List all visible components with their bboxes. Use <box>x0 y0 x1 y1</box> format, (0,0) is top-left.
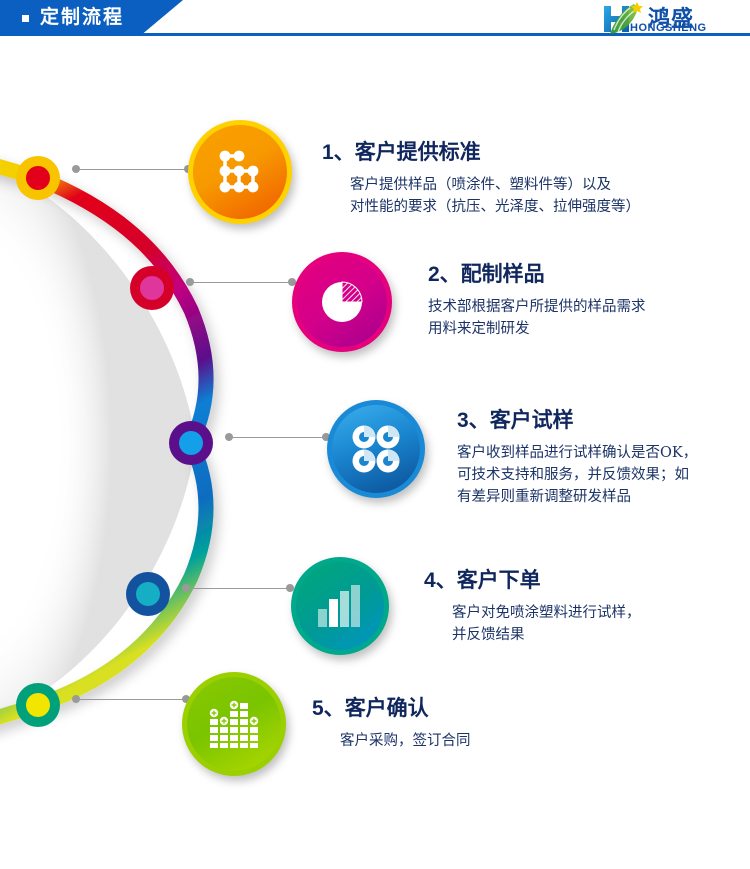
step-1-desc-line-1: 客户提供样品（喷涂件、塑料件等）以及 <box>350 174 640 196</box>
step-3-title-label: 客户试样 <box>490 409 574 432</box>
step-4-desc: 客户对免喷涂塑料进行试样， 并反馈结果 <box>452 602 641 646</box>
step-1-desc-line-2: 对性能的要求（抗压、光泽度、拉伸强度等） <box>350 196 640 218</box>
step-3-desc-line-1: 客户收到样品进行试样确认是否OK， <box>457 442 697 464</box>
step-4-badge[interactable] <box>291 557 389 655</box>
step-1-text: 1、客户提供标准 客户提供样品（喷涂件、塑料件等）以及 对性能的要求（抗压、光泽… <box>322 140 640 218</box>
step-3-text: 3、客户试样 客户收到样品进行试样确认是否OK， 可技术支持和服务，并反馈效果；… <box>457 408 697 508</box>
step-2-badge-inner <box>297 257 387 347</box>
step-2-title: 2、配制样品 <box>428 262 646 288</box>
step-5-number: 5、 <box>312 697 345 720</box>
connector-1 <box>72 165 192 174</box>
pie-chart-icon <box>318 278 366 326</box>
step-4-title-label: 客户下单 <box>457 569 541 592</box>
connector-line <box>190 282 292 283</box>
step-3-badge[interactable] <box>327 400 425 498</box>
connector-5 <box>72 695 190 704</box>
step-5-badge[interactable] <box>182 672 286 776</box>
step-2-badge[interactable] <box>292 252 392 352</box>
step-3-badge-inner <box>332 405 420 493</box>
step-1-badge[interactable] <box>188 120 292 224</box>
network-nodes-icon <box>215 147 265 197</box>
logo-name-en: HONGSHENG <box>630 22 707 34</box>
infographic-page: 定制流程 鸿盛 HONGSHENG <box>0 0 750 869</box>
step-5-desc-line-1: 客户采购，签订合同 <box>340 730 471 752</box>
step-1-number: 1、 <box>322 141 355 164</box>
step-2-text: 2、配制样品 技术部根据客户所提供的样品需求 用料来定制研发 <box>428 262 646 340</box>
equalizer-grid-icon <box>208 699 260 749</box>
step-2-number: 2、 <box>428 263 461 286</box>
step-3-desc-line-3: 有差异则重新调整研发样品 <box>457 486 697 508</box>
step-2-desc-line-2: 用料来定制研发 <box>428 318 646 340</box>
connector-line <box>76 699 186 700</box>
square-bullet-icon <box>22 15 29 22</box>
step-3-number: 3、 <box>457 409 490 432</box>
step-5-title: 5、客户确认 <box>312 696 471 722</box>
step-1-badge-inner <box>193 125 287 219</box>
step-4-badge-inner <box>296 562 384 650</box>
connector-line <box>229 437 326 438</box>
bar-chart-icon <box>316 583 364 629</box>
step-1-title: 1、客户提供标准 <box>322 140 640 166</box>
step-4-desc-line-1: 客户对免喷涂塑料进行试样， <box>452 602 641 624</box>
step-1-desc: 客户提供样品（喷涂件、塑料件等）以及 对性能的要求（抗压、光泽度、拉伸强度等） <box>350 174 640 218</box>
step-3-desc: 客户收到样品进行试样确认是否OK， 可技术支持和服务，并反馈效果；如 有差异则重… <box>457 442 697 508</box>
connector-4 <box>182 584 294 593</box>
page-title: 定制流程 <box>40 6 124 30</box>
flow-node-5[interactable] <box>16 683 60 727</box>
connector-line <box>186 588 290 589</box>
step-1-title-label: 客户提供标准 <box>355 141 481 164</box>
arc-stroke <box>0 158 206 726</box>
step-4-desc-line-2: 并反馈结果 <box>452 624 641 646</box>
company-logo: 鸿盛 HONGSHENG <box>600 2 740 38</box>
arc-backdrop <box>0 150 196 735</box>
flow-node-2[interactable] <box>130 266 174 310</box>
step-3-desc-line-2: 可技术支持和服务，并反馈效果；如 <box>457 464 697 486</box>
connector-line <box>76 169 188 170</box>
step-2-desc-line-1: 技术部根据客户所提供的样品需求 <box>428 296 646 318</box>
step-5-badge-inner <box>187 677 281 771</box>
step-5-desc: 客户采购，签订合同 <box>340 730 471 752</box>
connector-2 <box>186 278 296 287</box>
step-2-desc: 技术部根据客户所提供的样品需求 用料来定制研发 <box>428 296 646 340</box>
flow-node-1[interactable] <box>16 156 60 200</box>
step-4-text: 4、客户下单 客户对免喷涂塑料进行试样， 并反馈结果 <box>424 568 641 646</box>
step-2-title-label: 配制样品 <box>461 263 545 286</box>
flow-node-4[interactable] <box>126 572 170 616</box>
step-4-number: 4、 <box>424 569 457 592</box>
step-5-title-label: 客户确认 <box>345 697 429 720</box>
connector-3 <box>225 433 330 442</box>
step-4-title: 4、客户下单 <box>424 568 641 594</box>
step-5-text: 5、客户确认 客户采购，签订合同 <box>312 696 471 752</box>
flow-node-3[interactable] <box>169 421 213 465</box>
step-3-title: 3、客户试样 <box>457 408 697 434</box>
four-donuts-icon <box>350 423 402 475</box>
